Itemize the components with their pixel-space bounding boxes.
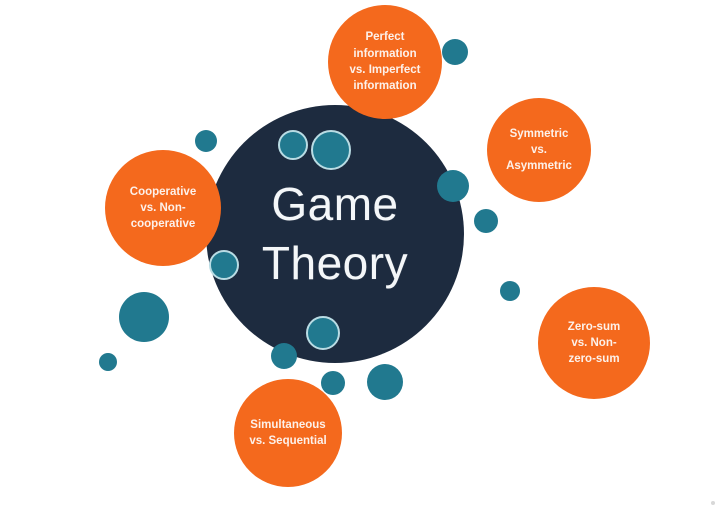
topic-bubble-simultaneous-sequential[interactable]: Simultaneous vs. Sequential (234, 379, 342, 487)
topic-label-cooperative-non-cooperative: Cooperative vs. Non- cooperative (122, 184, 204, 233)
dot-right-upper (437, 170, 469, 202)
dot-left-small (99, 353, 117, 371)
dot-core-lower (306, 316, 340, 350)
topic-label-perfect-imperfect-information: Perfect information vs. Imperfect inform… (342, 29, 429, 94)
dot-right-lower (500, 281, 520, 301)
dot-core-upper-large (311, 130, 351, 170)
topic-bubble-zero-sum-non-zero-sum[interactable]: Zero-sum vs. Non- zero-sum (538, 287, 650, 399)
dot-core-left (209, 250, 239, 280)
dot-core-upper-small (278, 130, 308, 160)
topic-label-simultaneous-sequential: Simultaneous vs. Sequential (241, 417, 334, 450)
dot-bottom-large (367, 364, 403, 400)
core-bubble-label: Game Theory (262, 175, 408, 293)
topic-bubble-cooperative-non-cooperative[interactable]: Cooperative vs. Non- cooperative (105, 150, 221, 266)
topic-label-symmetric-asymmetric: Symmetric vs. Asymmetric (498, 126, 580, 175)
dot-lower-left (271, 343, 297, 369)
topic-bubble-perfect-imperfect-information[interactable]: Perfect information vs. Imperfect inform… (328, 5, 442, 119)
dot-bottom-small (321, 371, 345, 395)
dot-left-large (119, 292, 169, 342)
dot-right-mid (474, 209, 498, 233)
dot-top-right-outer (442, 39, 468, 65)
topic-bubble-symmetric-asymmetric[interactable]: Symmetric vs. Asymmetric (487, 98, 591, 202)
dot-upper-left-outer (195, 130, 217, 152)
diagram-canvas: Game Theory Perfect information vs. Impe… (0, 0, 720, 509)
corner-artifact (711, 501, 715, 505)
topic-label-zero-sum-non-zero-sum: Zero-sum vs. Non- zero-sum (560, 319, 628, 368)
